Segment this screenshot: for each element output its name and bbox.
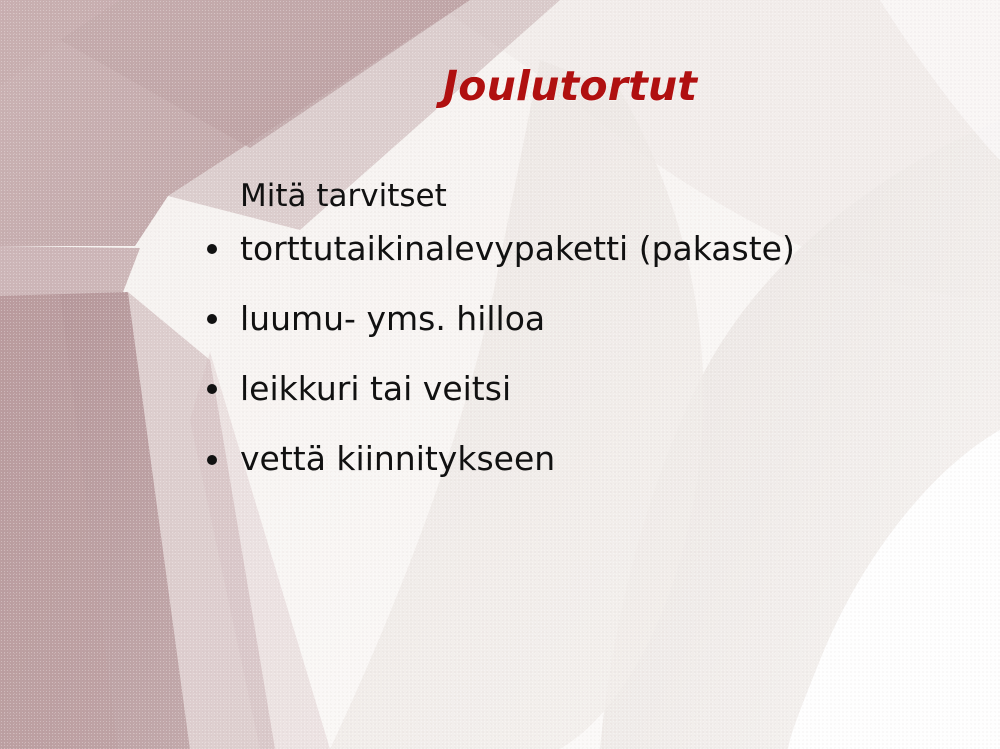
list-item-label: leikkuri tai veitsi	[240, 369, 511, 408]
body-content: Mitä tarvitset torttutaikinalevypaketti …	[200, 178, 900, 512]
lead-line: Mitä tarvitset	[240, 178, 900, 215]
bullet-dot-icon	[207, 455, 217, 465]
ingredients-list: torttutaikinalevypaketti (pakaste) luumu…	[200, 231, 900, 478]
list-item: leikkuri tai veitsi	[200, 371, 900, 407]
list-item: torttutaikinalevypaketti (pakaste)	[200, 231, 900, 267]
presentation-slide: Joulutortut Mitä tarvitset torttutaikina…	[0, 0, 1000, 749]
bullet-dot-icon	[207, 314, 217, 324]
slide-content: Joulutortut Mitä tarvitset torttutaikina…	[0, 0, 1000, 749]
list-item: vettä kiinnitykseen	[200, 441, 900, 477]
list-item-label: luumu- yms. hilloa	[240, 299, 545, 338]
list-item-label: torttutaikinalevypaketti (pakaste)	[240, 229, 795, 268]
list-item: luumu- yms. hilloa	[200, 301, 900, 337]
list-item-label: vettä kiinnitykseen	[240, 439, 555, 478]
bullet-dot-icon	[207, 244, 217, 254]
page-title: Joulutortut	[0, 62, 1000, 110]
bullet-dot-icon	[207, 384, 217, 394]
